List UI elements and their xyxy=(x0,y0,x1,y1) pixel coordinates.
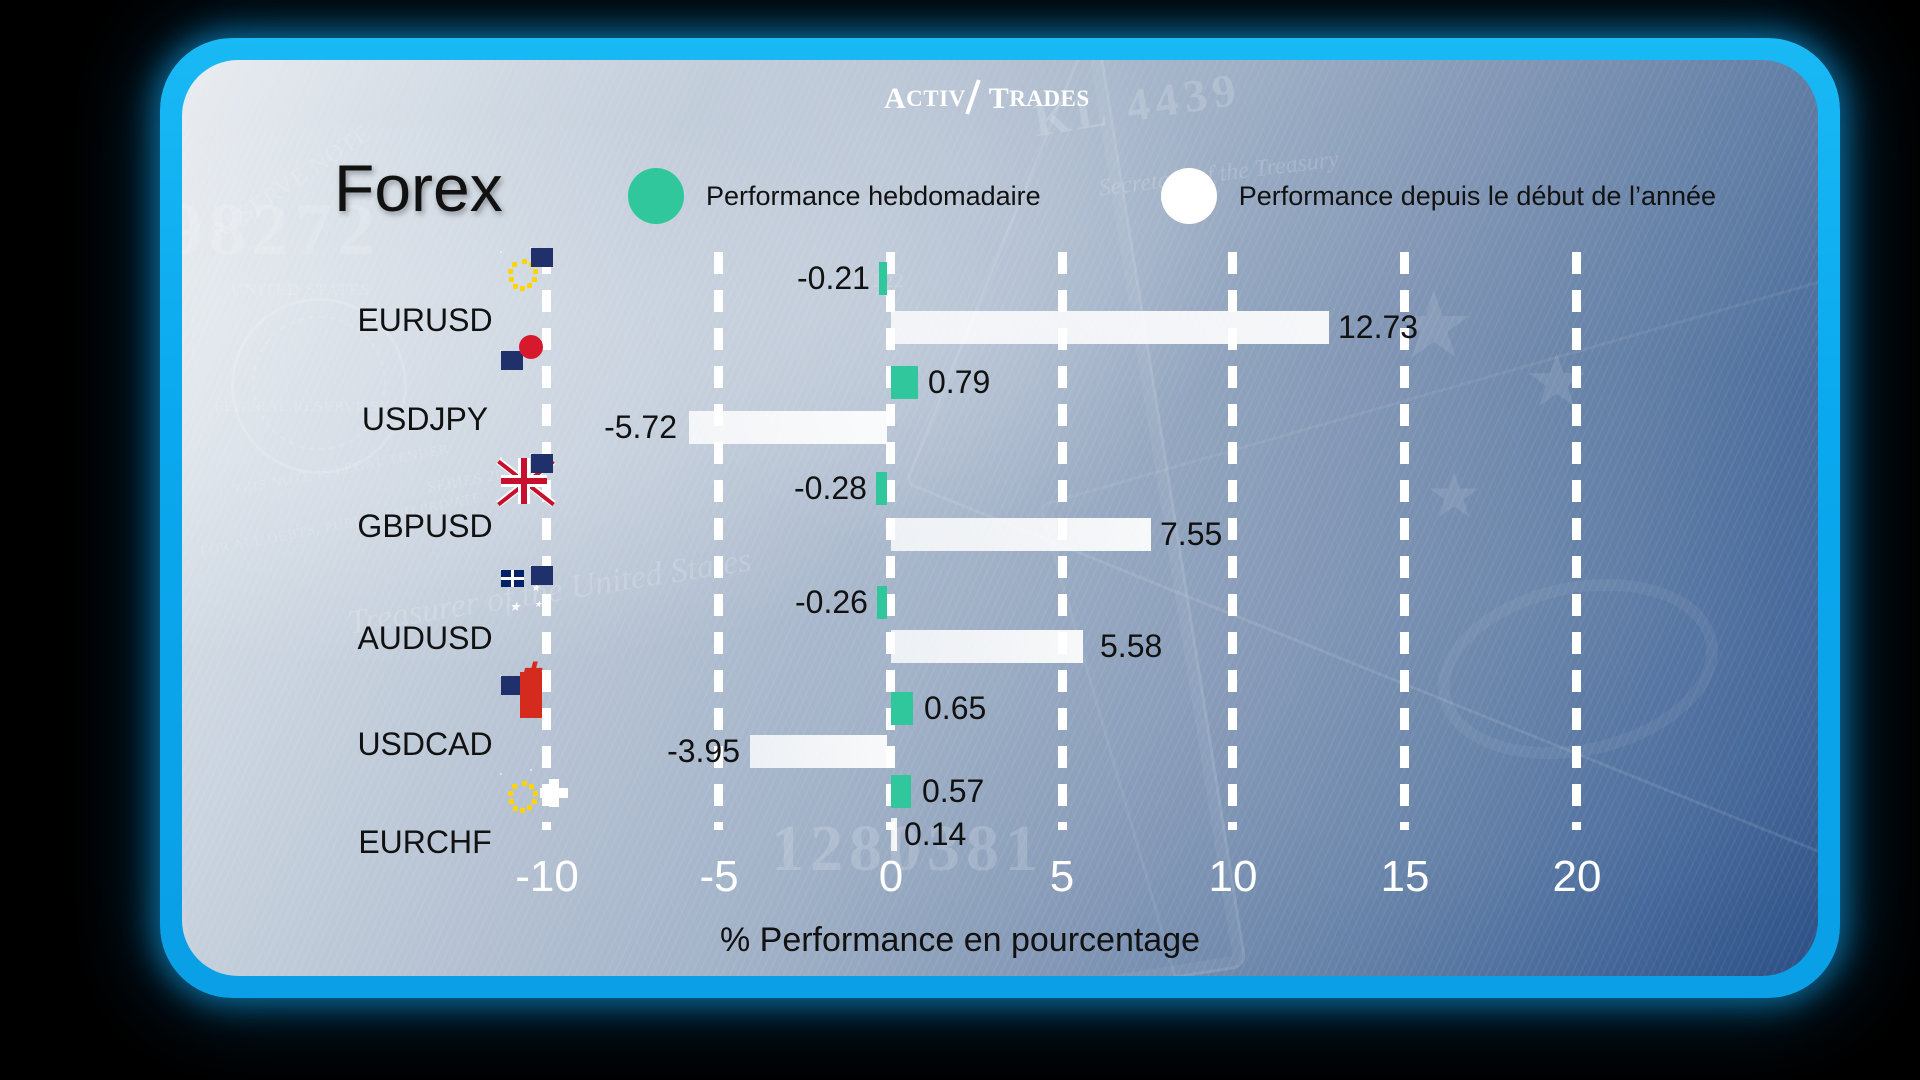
legend-item-ytd[interactable]: Performance depuis le début de l’année xyxy=(1161,168,1716,224)
euro-star-2: ★ xyxy=(1524,344,1590,418)
screenshot-root: ★ ★ ★ 98272 1280381 RESERVE NOTE UNITED … xyxy=(0,0,1920,1080)
logo-check-icon xyxy=(968,84,988,114)
category-label: USDJPY xyxy=(300,401,550,438)
logo-text-ctiv: CTIV xyxy=(906,86,966,112)
category-eurusd: EURUSD xyxy=(300,248,550,339)
page-title: Forex xyxy=(334,150,503,226)
chart-legend: Performance hebdomadaire Performance dep… xyxy=(628,168,1716,224)
flag-pair-eurusd xyxy=(300,248,550,298)
bg-serial-b: 1280381 xyxy=(771,811,1044,887)
logo-text-a: A xyxy=(884,82,906,116)
category-label: AUDUSD xyxy=(300,620,550,657)
circle-icon xyxy=(628,168,684,224)
category-label: EURCHF xyxy=(300,824,550,861)
euro-star-1: ★ xyxy=(1393,280,1475,372)
euro-star-3: ★ xyxy=(1425,463,1482,527)
category-label: GBPUSD xyxy=(300,508,550,545)
logo-text-t: T xyxy=(989,82,1010,116)
legend-item-weekly[interactable]: Performance hebdomadaire xyxy=(628,168,1041,224)
activtrades-logo[interactable]: ACTIVTRADES xyxy=(884,82,1090,116)
flag-pair-usdcad: ✚ xyxy=(300,672,550,722)
category-label: USDCAD xyxy=(300,726,550,763)
category-audusd: ★★★ AUDUSD xyxy=(300,566,550,657)
flag-pair-eurchf xyxy=(300,770,550,820)
category-gbpusd: GBPUSD xyxy=(300,454,550,545)
category-usdjpy: USDJPY xyxy=(300,347,550,438)
flag-pair-gbpusd xyxy=(300,454,550,504)
logo-text-rades: RADES xyxy=(1009,86,1089,112)
legend-label-weekly: Performance hebdomadaire xyxy=(706,181,1041,212)
circle-icon xyxy=(1161,168,1217,224)
flag-pair-usdjpy xyxy=(300,347,550,397)
bg-note-g: D 222 xyxy=(853,271,905,293)
flag-pair-audusd: ★★★ xyxy=(300,566,550,616)
category-eurchf: EURCHF xyxy=(300,770,550,861)
category-usdcad: ✚ USDCAD xyxy=(300,672,550,763)
category-label: EURUSD xyxy=(300,302,550,339)
legend-label-ytd: Performance depuis le début de l’année xyxy=(1239,181,1716,212)
